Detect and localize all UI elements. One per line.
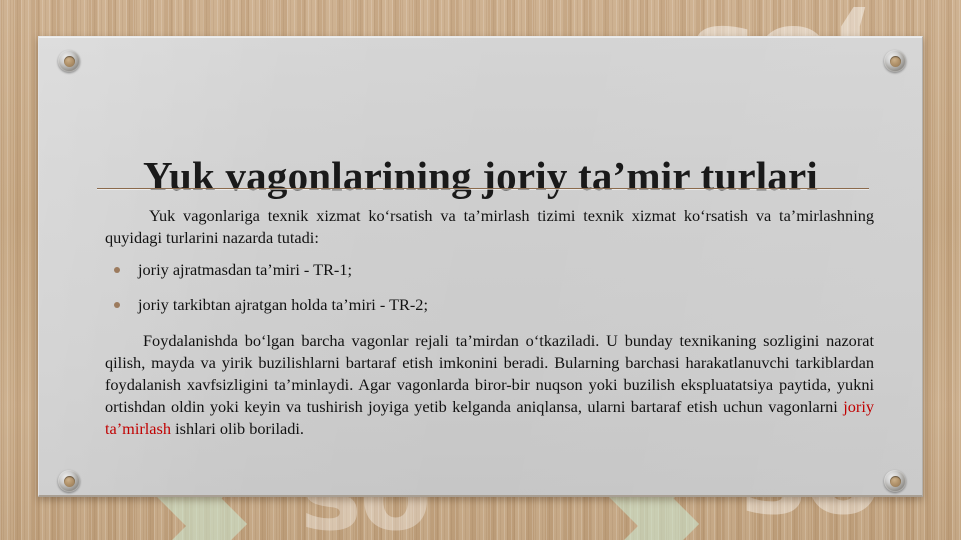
slide-content: Yuk vagonlarining joriy ta’mir turlari Y… xyxy=(39,37,922,495)
bullet-dot-icon xyxy=(114,302,120,308)
list-item: joriy tarkibtan ajratgan holda ta’miri -… xyxy=(105,294,874,315)
body-paragraph-lead: Foydalanishda bo‘lgan barcha vagonlar re… xyxy=(105,331,874,416)
body-paragraph-tail: ishlari olib boriladi. xyxy=(171,419,304,438)
list-item: joriy ajratmasdan ta’miri - TR-1; xyxy=(105,259,874,280)
slide-canvas: so‘ so‘ so‘ so‘ so‘ Yuk vagonlarining jo… xyxy=(0,0,961,540)
content-plaque: Yuk vagonlarining joriy ta’mir turlari Y… xyxy=(38,36,923,497)
page-title: Yuk vagonlarining joriy ta’mir turlari xyxy=(39,154,922,199)
body-paragraph: Foydalanishda bo‘lgan barcha vagonlar re… xyxy=(105,330,874,441)
list-item-label: joriy ajratmasdan ta’miri - TR-1; xyxy=(138,260,352,279)
title-divider xyxy=(97,188,869,189)
intro-paragraph: Yuk vagonlariga texnik xizmat ko‘rsatish… xyxy=(105,205,874,249)
body-text-block: Yuk vagonlariga texnik xizmat ko‘rsatish… xyxy=(105,205,874,442)
repair-types-list: joriy ajratmasdan ta’miri - TR-1; joriy … xyxy=(105,259,874,315)
bullet-dot-icon xyxy=(114,267,120,273)
list-item-label: joriy tarkibtan ajratgan holda ta’miri -… xyxy=(138,295,428,314)
